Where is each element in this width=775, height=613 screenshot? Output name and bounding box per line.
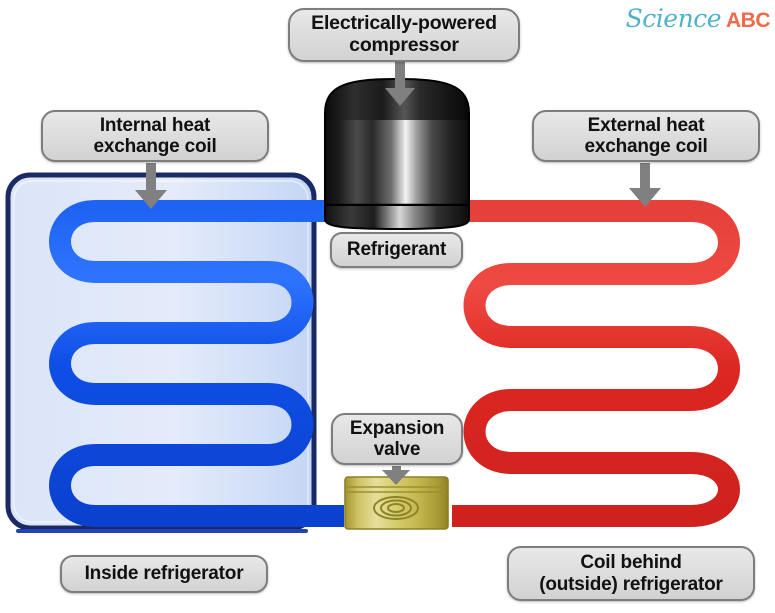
label-refrigerant: Refrigerant	[330, 232, 463, 268]
label-outside-refrigerator: Coil behind (outside) refrigerator	[507, 546, 755, 601]
site-logo: Science ABC	[596, 4, 770, 36]
expansion-valve-unit	[345, 477, 448, 529]
refrigeration-cycle-illustration	[0, 0, 775, 613]
label-external-heat-exchange-coil: External heat exchange coil	[532, 110, 760, 162]
logo-word-science: Science	[626, 4, 721, 33]
diagram-canvas: Science ABC Electrically-powered compres…	[0, 0, 775, 613]
logo-word-abc: ABC	[726, 9, 770, 33]
label-compressor: Electrically-powered compressor	[288, 8, 520, 62]
label-expansion-valve: Expansion valve	[331, 413, 463, 465]
label-inside-refrigerator: Inside refrigerator	[60, 555, 268, 593]
label-internal-heat-exchange-coil: Internal heat exchange coil	[41, 110, 269, 162]
external-heat-exchange-coil	[452, 211, 729, 516]
